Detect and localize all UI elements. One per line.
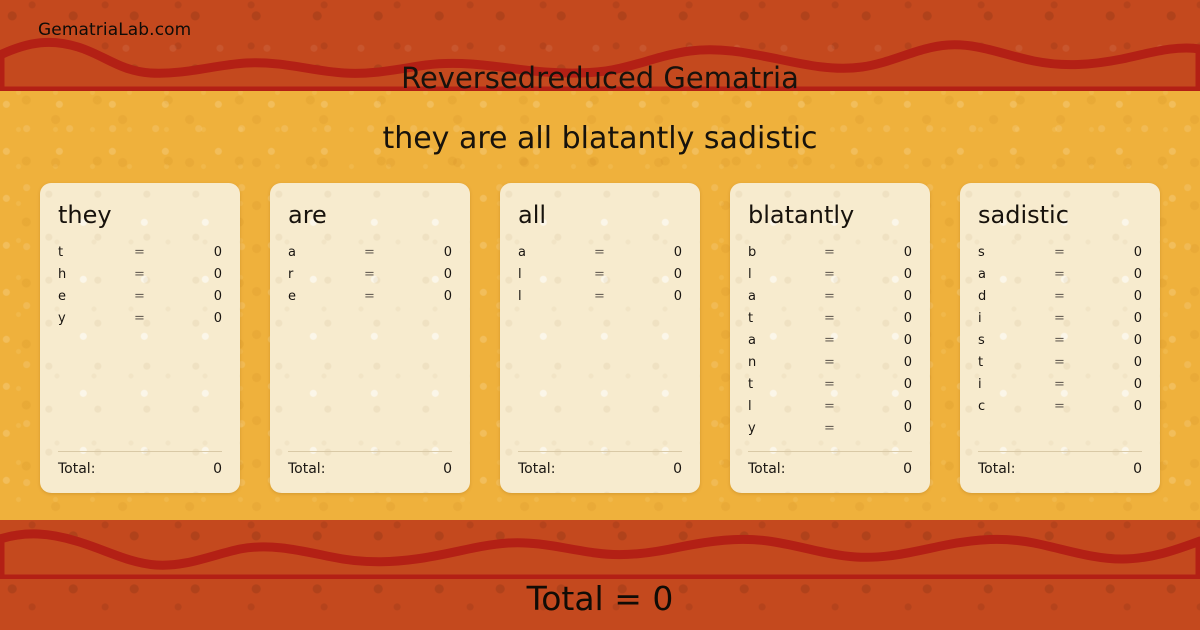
word-card-row: they t = 0 h = 0 e = 0 y xyxy=(40,183,1160,493)
card-total-row: Total: 0 xyxy=(748,461,912,477)
letter-row: t = 0 xyxy=(58,245,222,267)
letter-row: a = 0 xyxy=(978,267,1142,289)
equals-sign: = xyxy=(824,267,882,282)
card-total-label: Total: xyxy=(288,461,443,477)
letter-value: 0 xyxy=(192,245,222,260)
letter-value: 0 xyxy=(652,245,682,260)
letter-char: r xyxy=(288,267,364,282)
equals-sign: = xyxy=(1054,377,1112,392)
card-total-label: Total: xyxy=(748,461,903,477)
letter-char: l xyxy=(518,289,594,304)
letter-char: t xyxy=(58,245,134,260)
card-total-row: Total: 0 xyxy=(518,461,682,477)
letter-row: y = 0 xyxy=(58,311,222,333)
equals-sign: = xyxy=(1054,333,1112,348)
letter-char: y xyxy=(748,421,824,436)
equals-sign: = xyxy=(134,245,192,260)
card-total-value: 0 xyxy=(673,461,682,477)
letter-row: n = 0 xyxy=(748,355,912,377)
letter-value: 0 xyxy=(882,289,912,304)
letter-value-list: b = 0 l = 0 a = 0 t = 0 xyxy=(748,245,912,451)
word-card: they t = 0 h = 0 e = 0 y xyxy=(40,183,240,493)
equals-sign: = xyxy=(1054,355,1112,370)
equals-sign: = xyxy=(824,421,882,436)
card-word-title: are xyxy=(288,201,452,229)
page-title: Reversedreduced Gematria xyxy=(0,61,1200,95)
letter-char: a xyxy=(748,333,824,348)
letter-value: 0 xyxy=(192,267,222,282)
result-image-canvas: GematriaLab.com Reversedreduced Gematria… xyxy=(0,0,1200,630)
letter-value: 0 xyxy=(652,267,682,282)
equals-sign: = xyxy=(1054,245,1112,260)
letter-value-list: a = 0 r = 0 e = 0 xyxy=(288,245,452,451)
card-divider xyxy=(978,451,1142,452)
letter-row: l = 0 xyxy=(748,399,912,421)
equals-sign: = xyxy=(824,377,882,392)
letter-value-list: t = 0 h = 0 e = 0 y = 0 xyxy=(58,245,222,451)
word-card: blatantly b = 0 l = 0 a = 0 t xyxy=(730,183,930,493)
letter-value-list: s = 0 a = 0 d = 0 i = 0 xyxy=(978,245,1142,451)
card-divider xyxy=(518,451,682,452)
letter-char: c xyxy=(978,399,1054,414)
letter-value: 0 xyxy=(882,311,912,326)
letter-row: l = 0 xyxy=(518,267,682,289)
equals-sign: = xyxy=(364,289,422,304)
card-total-row: Total: 0 xyxy=(978,461,1142,477)
letter-char: l xyxy=(518,267,594,282)
card-divider xyxy=(288,451,452,452)
card-total-label: Total: xyxy=(518,461,673,477)
letter-value: 0 xyxy=(1112,267,1142,282)
equals-sign: = xyxy=(824,245,882,260)
letter-value: 0 xyxy=(192,289,222,304)
card-divider xyxy=(748,451,912,452)
letter-row: c = 0 xyxy=(978,399,1142,421)
equals-sign: = xyxy=(364,267,422,282)
letter-char: l xyxy=(748,267,824,282)
equals-sign: = xyxy=(134,289,192,304)
card-total-value: 0 xyxy=(443,461,452,477)
equals-sign: = xyxy=(1054,267,1112,282)
letter-char: t xyxy=(978,355,1054,370)
letter-row: s = 0 xyxy=(978,333,1142,355)
letter-value-list: a = 0 l = 0 l = 0 xyxy=(518,245,682,451)
card-total-value: 0 xyxy=(1133,461,1142,477)
letter-char: t xyxy=(748,311,824,326)
equals-sign: = xyxy=(1054,399,1112,414)
letter-row: l = 0 xyxy=(518,289,682,311)
letter-value: 0 xyxy=(1112,333,1142,348)
card-total-value: 0 xyxy=(213,461,222,477)
letter-value: 0 xyxy=(882,355,912,370)
letter-value: 0 xyxy=(882,399,912,414)
site-logo[interactable]: GematriaLab.com xyxy=(38,20,191,40)
letter-row: e = 0 xyxy=(288,289,452,311)
letter-char: h xyxy=(58,267,134,282)
letter-char: a xyxy=(288,245,364,260)
letter-char: t xyxy=(748,377,824,392)
letter-row: e = 0 xyxy=(58,289,222,311)
letter-row: a = 0 xyxy=(748,333,912,355)
card-total-row: Total: 0 xyxy=(288,461,452,477)
equals-sign: = xyxy=(364,245,422,260)
card-total-row: Total: 0 xyxy=(58,461,222,477)
word-card: sadistic s = 0 a = 0 d = 0 i xyxy=(960,183,1160,493)
letter-char: n xyxy=(748,355,824,370)
letter-row: a = 0 xyxy=(518,245,682,267)
letter-value: 0 xyxy=(1112,245,1142,260)
letter-row: t = 0 xyxy=(748,311,912,333)
equals-sign: = xyxy=(824,289,882,304)
letter-value: 0 xyxy=(1112,399,1142,414)
letter-row: l = 0 xyxy=(748,267,912,289)
card-word-title: they xyxy=(58,201,222,229)
letter-value: 0 xyxy=(882,421,912,436)
letter-value: 0 xyxy=(192,311,222,326)
letter-char: d xyxy=(978,289,1054,304)
card-total-label: Total: xyxy=(58,461,213,477)
letter-value: 0 xyxy=(882,267,912,282)
word-card: all a = 0 l = 0 l = 0 xyxy=(500,183,700,493)
equals-sign: = xyxy=(594,245,652,260)
letter-value: 0 xyxy=(652,289,682,304)
letter-char: a xyxy=(748,289,824,304)
letter-char: s xyxy=(978,333,1054,348)
letter-row: a = 0 xyxy=(288,245,452,267)
bottom-wave-edge-icon xyxy=(0,519,1200,579)
letter-value: 0 xyxy=(882,245,912,260)
letter-row: h = 0 xyxy=(58,267,222,289)
word-card: are a = 0 r = 0 e = 0 xyxy=(270,183,470,493)
letter-value: 0 xyxy=(422,245,452,260)
grand-total: Total = 0 xyxy=(0,579,1200,618)
letter-char: a xyxy=(978,267,1054,282)
letter-char: i xyxy=(978,311,1054,326)
equals-sign: = xyxy=(594,289,652,304)
letter-char: b xyxy=(748,245,824,260)
phrase-subtitle: they are all blatantly sadistic xyxy=(0,121,1200,156)
equals-sign: = xyxy=(1054,289,1112,304)
letter-row: a = 0 xyxy=(748,289,912,311)
equals-sign: = xyxy=(824,333,882,348)
letter-value: 0 xyxy=(1112,289,1142,304)
letter-row: b = 0 xyxy=(748,245,912,267)
letter-row: i = 0 xyxy=(978,311,1142,333)
card-total-label: Total: xyxy=(978,461,1133,477)
letter-value: 0 xyxy=(1112,377,1142,392)
letter-value: 0 xyxy=(422,289,452,304)
letter-value: 0 xyxy=(422,267,452,282)
letter-value: 0 xyxy=(1112,355,1142,370)
equals-sign: = xyxy=(824,399,882,414)
letter-char: e xyxy=(288,289,364,304)
equals-sign: = xyxy=(134,267,192,282)
equals-sign: = xyxy=(1054,311,1112,326)
letter-char: y xyxy=(58,311,134,326)
letter-row: s = 0 xyxy=(978,245,1142,267)
letter-row: r = 0 xyxy=(288,267,452,289)
letter-row: t = 0 xyxy=(748,377,912,399)
letter-char: i xyxy=(978,377,1054,392)
letter-value: 0 xyxy=(882,377,912,392)
equals-sign: = xyxy=(134,311,192,326)
letter-value: 0 xyxy=(882,333,912,348)
equals-sign: = xyxy=(824,311,882,326)
letter-char: a xyxy=(518,245,594,260)
letter-row: t = 0 xyxy=(978,355,1142,377)
equals-sign: = xyxy=(824,355,882,370)
letter-row: i = 0 xyxy=(978,377,1142,399)
equals-sign: = xyxy=(594,267,652,282)
letter-value: 0 xyxy=(1112,311,1142,326)
letter-char: s xyxy=(978,245,1054,260)
letter-row: y = 0 xyxy=(748,421,912,443)
card-word-title: all xyxy=(518,201,682,229)
card-word-title: blatantly xyxy=(748,201,912,229)
letter-row: d = 0 xyxy=(978,289,1142,311)
letter-char: e xyxy=(58,289,134,304)
card-word-title: sadistic xyxy=(978,201,1142,229)
card-total-value: 0 xyxy=(903,461,912,477)
card-divider xyxy=(58,451,222,452)
letter-char: l xyxy=(748,399,824,414)
